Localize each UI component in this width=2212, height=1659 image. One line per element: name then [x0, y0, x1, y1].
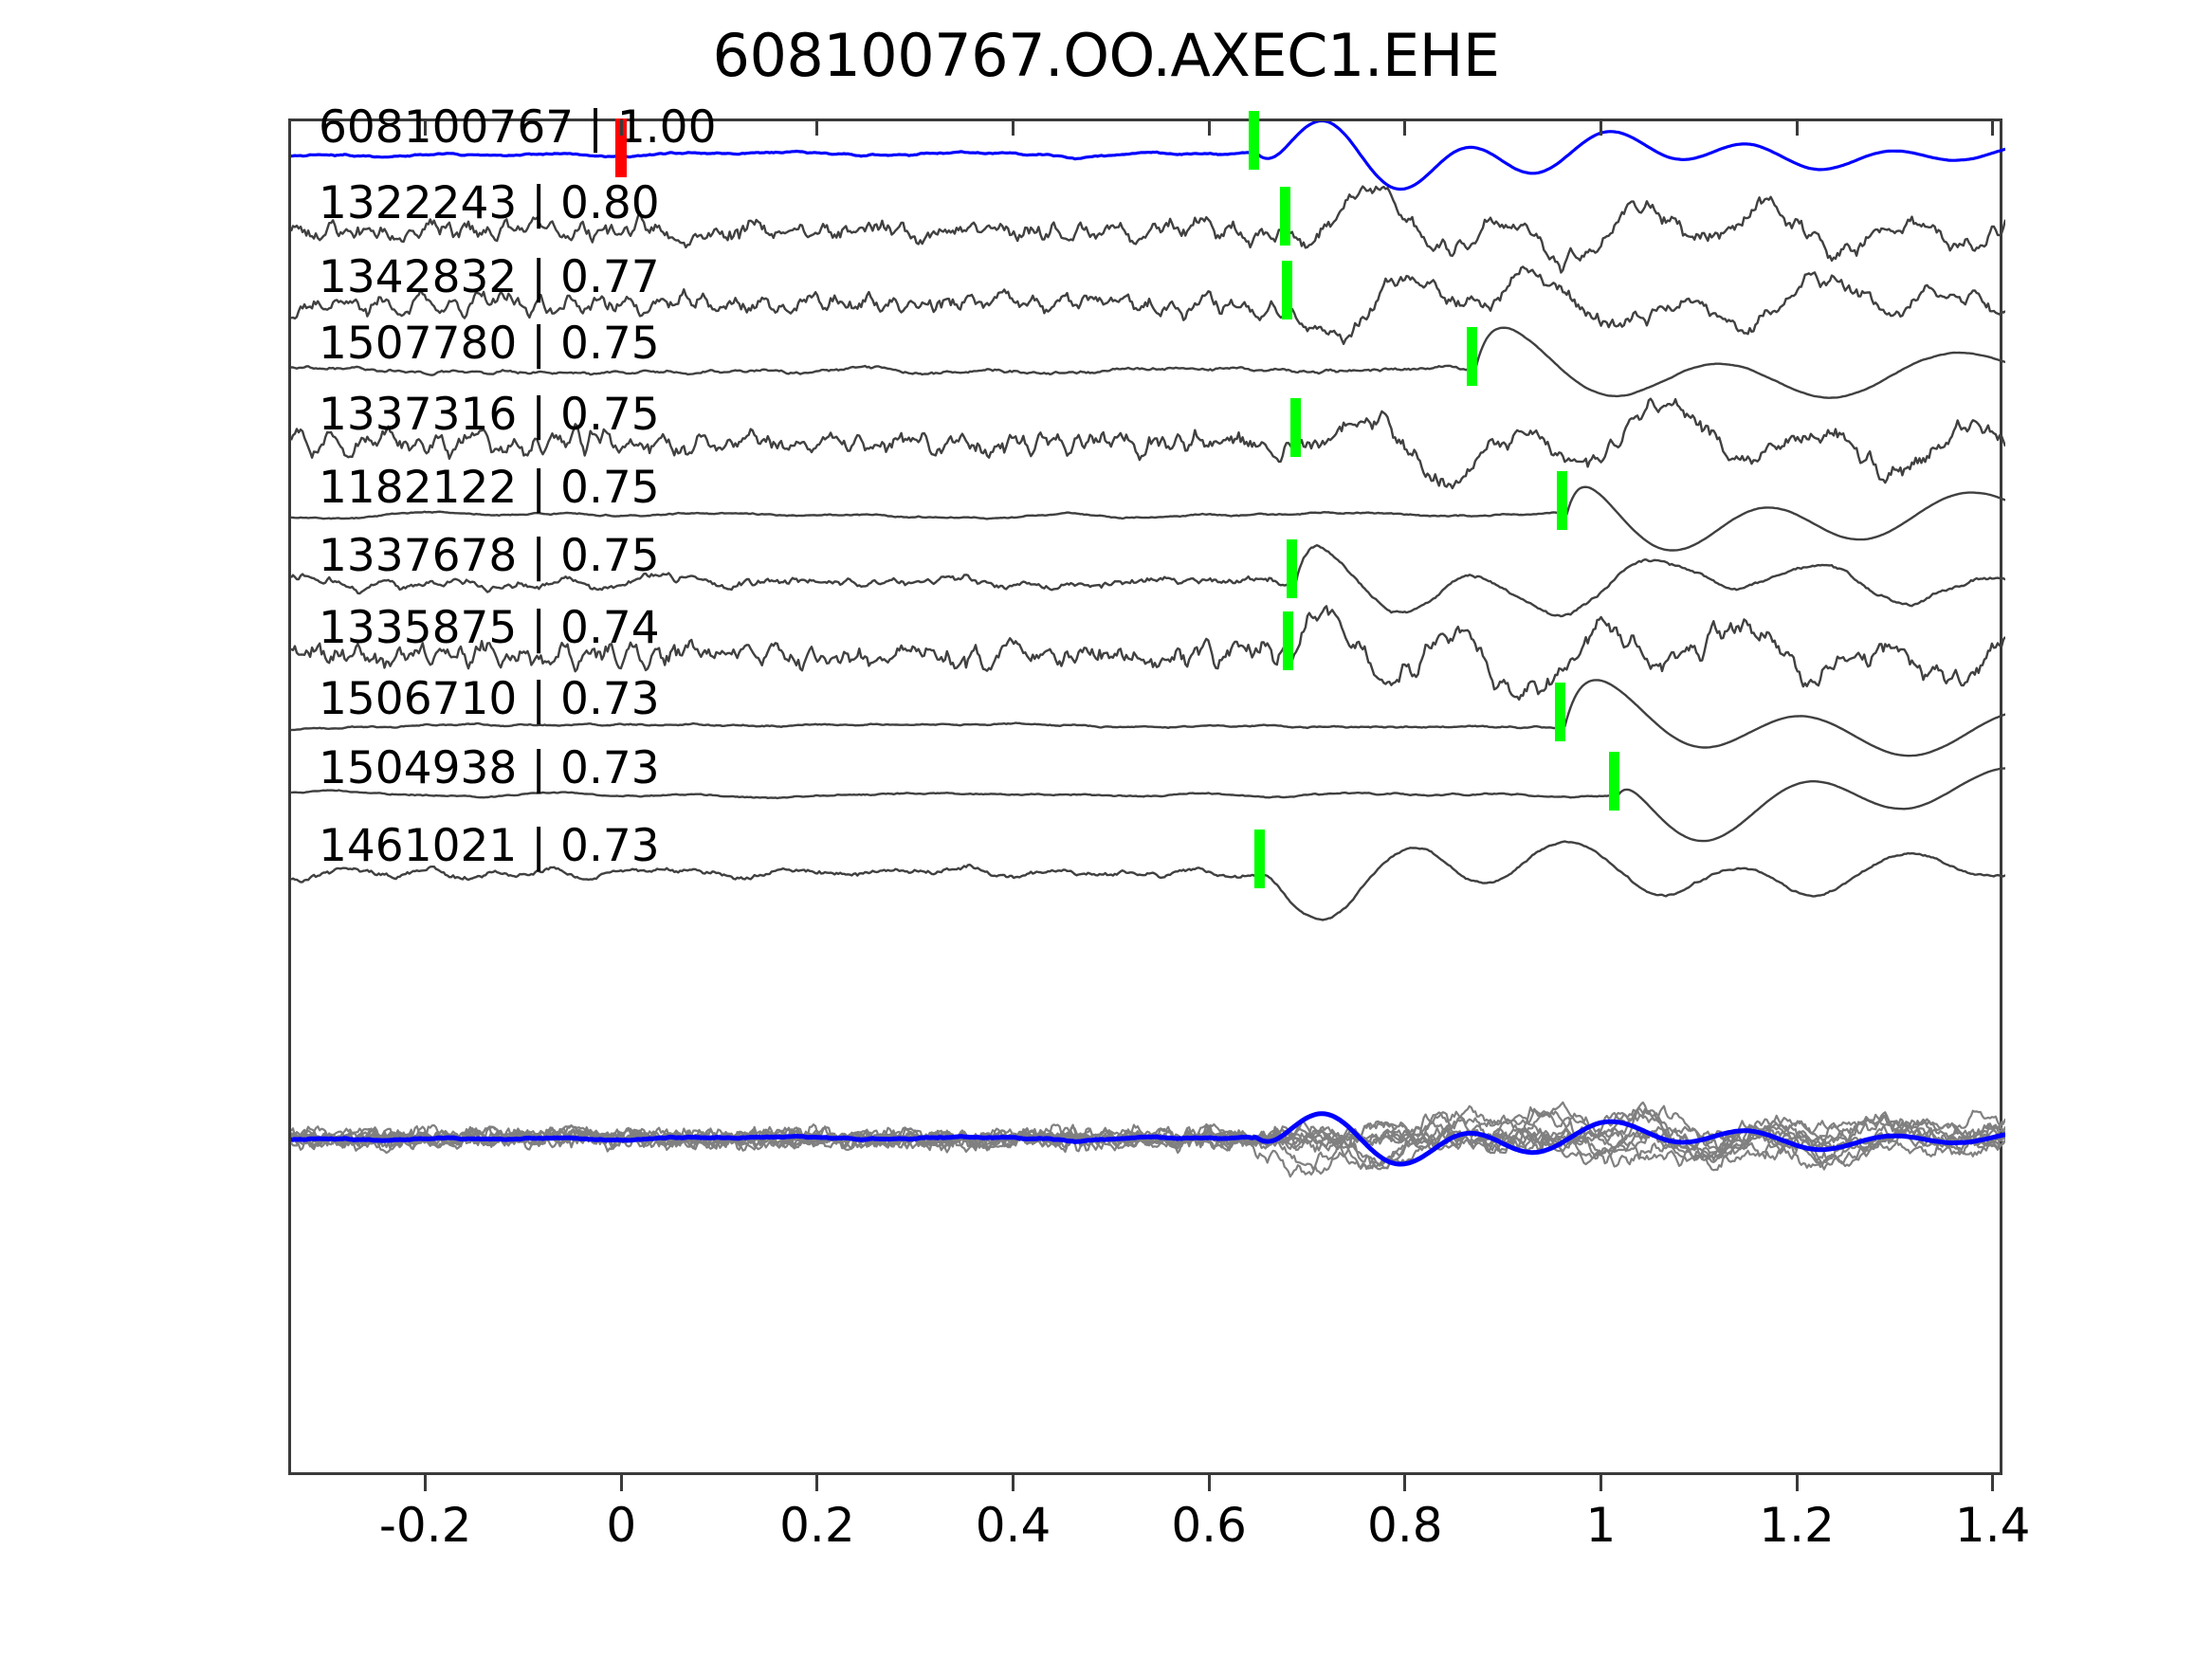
x-tick — [1991, 1475, 1994, 1491]
x-tick-label: 0.2 — [779, 1498, 855, 1553]
x-tick-label: 0.6 — [1171, 1498, 1247, 1553]
trace-label-1342832: 1342832 | 0.77 — [319, 251, 660, 303]
trace-label-1337678: 1337678 | 0.75 — [319, 530, 660, 582]
pick-marker-1342832[interactable] — [1282, 261, 1292, 319]
x-tick-label: -0.2 — [379, 1498, 472, 1553]
x-tick-top — [1403, 119, 1406, 136]
trace-label-1322243: 1322243 | 0.80 — [319, 177, 660, 229]
trace-label-1461021: 1461021 | 0.73 — [319, 820, 660, 872]
trace-label-1507780: 1507780 | 0.75 — [319, 318, 660, 370]
trace-label-1335875: 1335875 | 0.74 — [319, 602, 660, 654]
x-tick-top — [1208, 119, 1211, 136]
x-tick — [1403, 1475, 1406, 1491]
pick-marker-1335875[interactable] — [1283, 611, 1293, 670]
pick-marker-1506710[interactable] — [1555, 683, 1565, 741]
x-tick — [1012, 1475, 1015, 1491]
x-tick — [424, 1475, 427, 1491]
x-tick-top — [815, 119, 818, 136]
pick-marker-1504938[interactable] — [1609, 752, 1619, 811]
x-tick-label: 1.4 — [1955, 1498, 2031, 1553]
x-tick-top — [1796, 119, 1799, 136]
page-title: 608100767.OO.AXEC1.EHE — [0, 21, 2212, 90]
pick-marker-1507780[interactable] — [1467, 327, 1477, 386]
trace-label-1182122: 1182122 | 0.75 — [319, 462, 660, 514]
x-tick-label: 1.2 — [1759, 1498, 1835, 1553]
x-tick — [1796, 1475, 1799, 1491]
pick-marker-1182122[interactable] — [1557, 471, 1567, 530]
trace-label-608100767: 608100767 | 1.00 — [319, 101, 717, 154]
x-tick-top — [424, 119, 427, 136]
x-tick-label: 1 — [1586, 1498, 1617, 1553]
x-tick — [815, 1475, 818, 1491]
x-tick-top — [1600, 119, 1602, 136]
x-tick-top — [1012, 119, 1015, 136]
trace-label-1506710: 1506710 | 0.73 — [319, 673, 660, 725]
x-tick — [1600, 1475, 1602, 1491]
pick-marker-1337316[interactable] — [1290, 398, 1301, 457]
trace-label-1337316: 1337316 | 0.75 — [319, 389, 660, 441]
pick-marker-1337678[interactable] — [1287, 539, 1297, 598]
pick-marker-1461021[interactable] — [1254, 829, 1265, 888]
x-tick — [1208, 1475, 1211, 1491]
x-tick-label: 0 — [606, 1498, 636, 1553]
x-tick-label: 0.4 — [976, 1498, 1051, 1553]
pick-marker-608100767[interactable] — [1249, 111, 1259, 170]
x-tick-top — [1991, 119, 1994, 136]
trace-label-1504938: 1504938 | 0.73 — [319, 742, 660, 794]
pick-marker-1322243[interactable] — [1280, 187, 1290, 246]
figure: 608100767.OO.AXEC1.EHE 608100767 | 1.001… — [0, 0, 2212, 1659]
x-tick-top — [620, 119, 623, 136]
x-tick — [620, 1475, 623, 1491]
x-tick-label: 0.8 — [1367, 1498, 1443, 1553]
